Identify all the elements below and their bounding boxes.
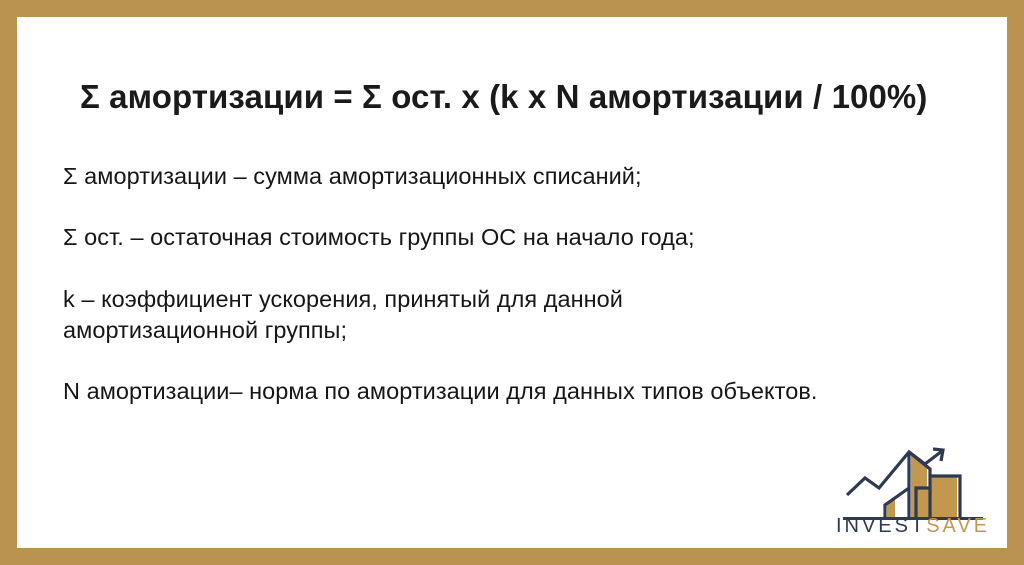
definition-list: Σ амортизации – сумма амортизационных сп… xyxy=(63,161,1007,407)
logo-wordmark-save: SAVE xyxy=(926,515,990,537)
slide-frame: Σ амортизации = Σ ост. x (k x N амортиза… xyxy=(0,0,1024,565)
logo-wordmark: INVESTSAVE xyxy=(833,516,993,536)
definition-item-k-coefficient: k – коэффициент ускорения, принятый для … xyxy=(63,284,1007,346)
definition-item-sum-residual: Σ ост. – остаточная стоимость группы ОС … xyxy=(63,222,1007,253)
page-title: Σ амортизации = Σ ост. x (k x N амортиза… xyxy=(80,77,980,117)
logo-wordmark-invest: INVEST xyxy=(836,515,926,537)
slide-content: Σ амортизации = Σ ост. x (k x N амортиза… xyxy=(17,17,1007,548)
definition-item-sum-amortization: Σ амортизации – сумма амортизационных сп… xyxy=(63,161,1007,192)
definition-item-n-norm: N амортизации– норма по амортизации для … xyxy=(63,376,1007,407)
